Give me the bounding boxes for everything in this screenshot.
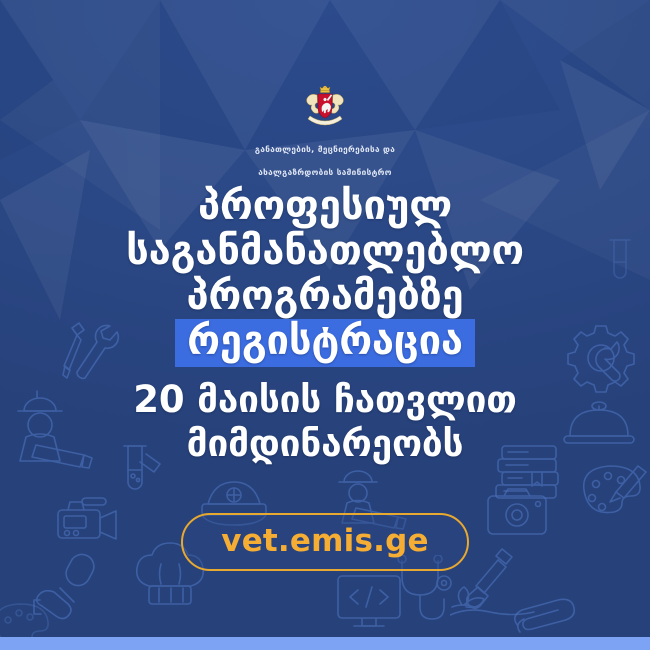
subline-line-2: მიმდინარეობს [0, 422, 650, 466]
headline-line-2: საგანმანათლებლო [0, 229, 650, 274]
georgia-coat-of-arms-emblem [302, 86, 348, 126]
headline-highlight-registration: რეგისტრაცია [175, 319, 475, 367]
ministry-name-line-1: განათლების, მეცნიერებისა და [0, 144, 650, 156]
cta-url-button[interactable]: vet.emis.ge [181, 513, 468, 571]
subline: 20 მაისის ჩათვლით მიმდინარეობს [0, 378, 650, 466]
headline-line-1: პროფესიულ [0, 184, 650, 229]
poster-canvas: განათლების, მეცნიერებისა და ახალგაზრდობი… [0, 0, 650, 650]
bottom-accent-strip [0, 637, 650, 650]
headline-line-3: პროგრამებზე [0, 274, 650, 319]
ministry-block: განათლების, მეცნიერებისა და ახალგაზრდობი… [0, 86, 650, 190]
ministry-name-line-2: ახალგაზრდობის სამინისტრო [0, 167, 650, 179]
cta-url-wrapper: vet.emis.ge [0, 513, 650, 571]
ministry-name: განათლების, მეცნიერებისა და ახალგაზრდობი… [0, 132, 650, 190]
headline: პროფესიულ საგანმანათლებლო პროგრამებზე რე… [0, 184, 650, 367]
subline-line-1: 20 მაისის ჩათვლით [0, 378, 650, 422]
